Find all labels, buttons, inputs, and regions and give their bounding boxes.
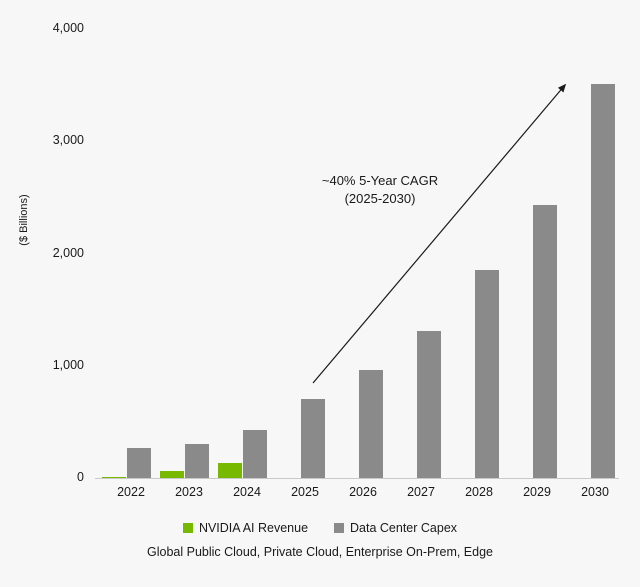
legend-swatch-icon — [334, 523, 344, 533]
x-axis-tick-label: 2029 — [508, 485, 566, 499]
bar-nvidia-ai-revenue-2023[interactable] — [160, 471, 184, 478]
cagr-annotation: ~40% 5-Year CAGR (2025-2030) — [300, 172, 460, 207]
bar-group — [508, 28, 566, 478]
y-axis-tick-label: 4,000 — [24, 22, 84, 35]
x-axis-tick-label: 2026 — [334, 485, 392, 499]
y-axis-tick-label: 2,000 — [24, 247, 84, 260]
bar-data-center-capex-2030[interactable] — [591, 84, 615, 478]
x-axis-tick-label: 2030 — [566, 485, 624, 499]
legend-label: NVIDIA AI Revenue — [199, 521, 308, 535]
chart-footnote: Global Public Cloud, Private Cloud, Ente… — [0, 545, 640, 559]
bar-data-center-capex-2024[interactable] — [243, 430, 267, 478]
x-axis-tick-label: 2022 — [102, 485, 160, 499]
x-axis-tick-label: 2027 — [392, 485, 450, 499]
bar-data-center-capex-2026[interactable] — [359, 370, 383, 478]
bar-data-center-capex-2023[interactable] — [185, 444, 209, 478]
x-axis-tick-label: 2025 — [276, 485, 334, 499]
bar-group — [392, 28, 450, 478]
y-axis-tick-label: 1,000 — [24, 359, 84, 372]
bar-group — [160, 28, 218, 478]
bar-group — [102, 28, 160, 478]
legend-item[interactable]: NVIDIA AI Revenue — [183, 521, 308, 535]
legend-swatch-icon — [183, 523, 193, 533]
legend-item[interactable]: Data Center Capex — [334, 521, 457, 535]
x-axis-tick-label: 2024 — [218, 485, 276, 499]
x-axis-line — [95, 478, 619, 479]
bar-group — [334, 28, 392, 478]
bar-data-center-capex-2027[interactable] — [417, 331, 441, 478]
y-axis-tick-label: 0 — [24, 471, 84, 484]
legend-label: Data Center Capex — [350, 521, 457, 535]
bar-group — [566, 28, 624, 478]
plot-area — [95, 28, 619, 478]
bar-data-center-capex-2028[interactable] — [475, 270, 499, 478]
y-axis-tick-labels: 4,0003,0002,0001,0000 — [22, 0, 84, 587]
x-axis-tick-label: 2028 — [450, 485, 508, 499]
cagr-annotation-line1: ~40% 5-Year CAGR — [300, 172, 460, 190]
cagr-annotation-line2: (2025-2030) — [300, 190, 460, 208]
y-axis-tick-label: 3,000 — [24, 134, 84, 147]
bar-group — [276, 28, 334, 478]
chart-legend: NVIDIA AI RevenueData Center Capex — [0, 521, 640, 535]
bar-nvidia-ai-revenue-2024[interactable] — [218, 463, 242, 478]
x-axis-tick-label: 2023 — [160, 485, 218, 499]
chart-container: ($ Billions) 4,0003,0002,0001,0000 20222… — [0, 0, 640, 587]
bar-data-center-capex-2022[interactable] — [127, 448, 151, 478]
bar-data-center-capex-2029[interactable] — [533, 205, 557, 478]
bar-data-center-capex-2025[interactable] — [301, 399, 325, 478]
bar-group — [450, 28, 508, 478]
bar-group — [218, 28, 276, 478]
